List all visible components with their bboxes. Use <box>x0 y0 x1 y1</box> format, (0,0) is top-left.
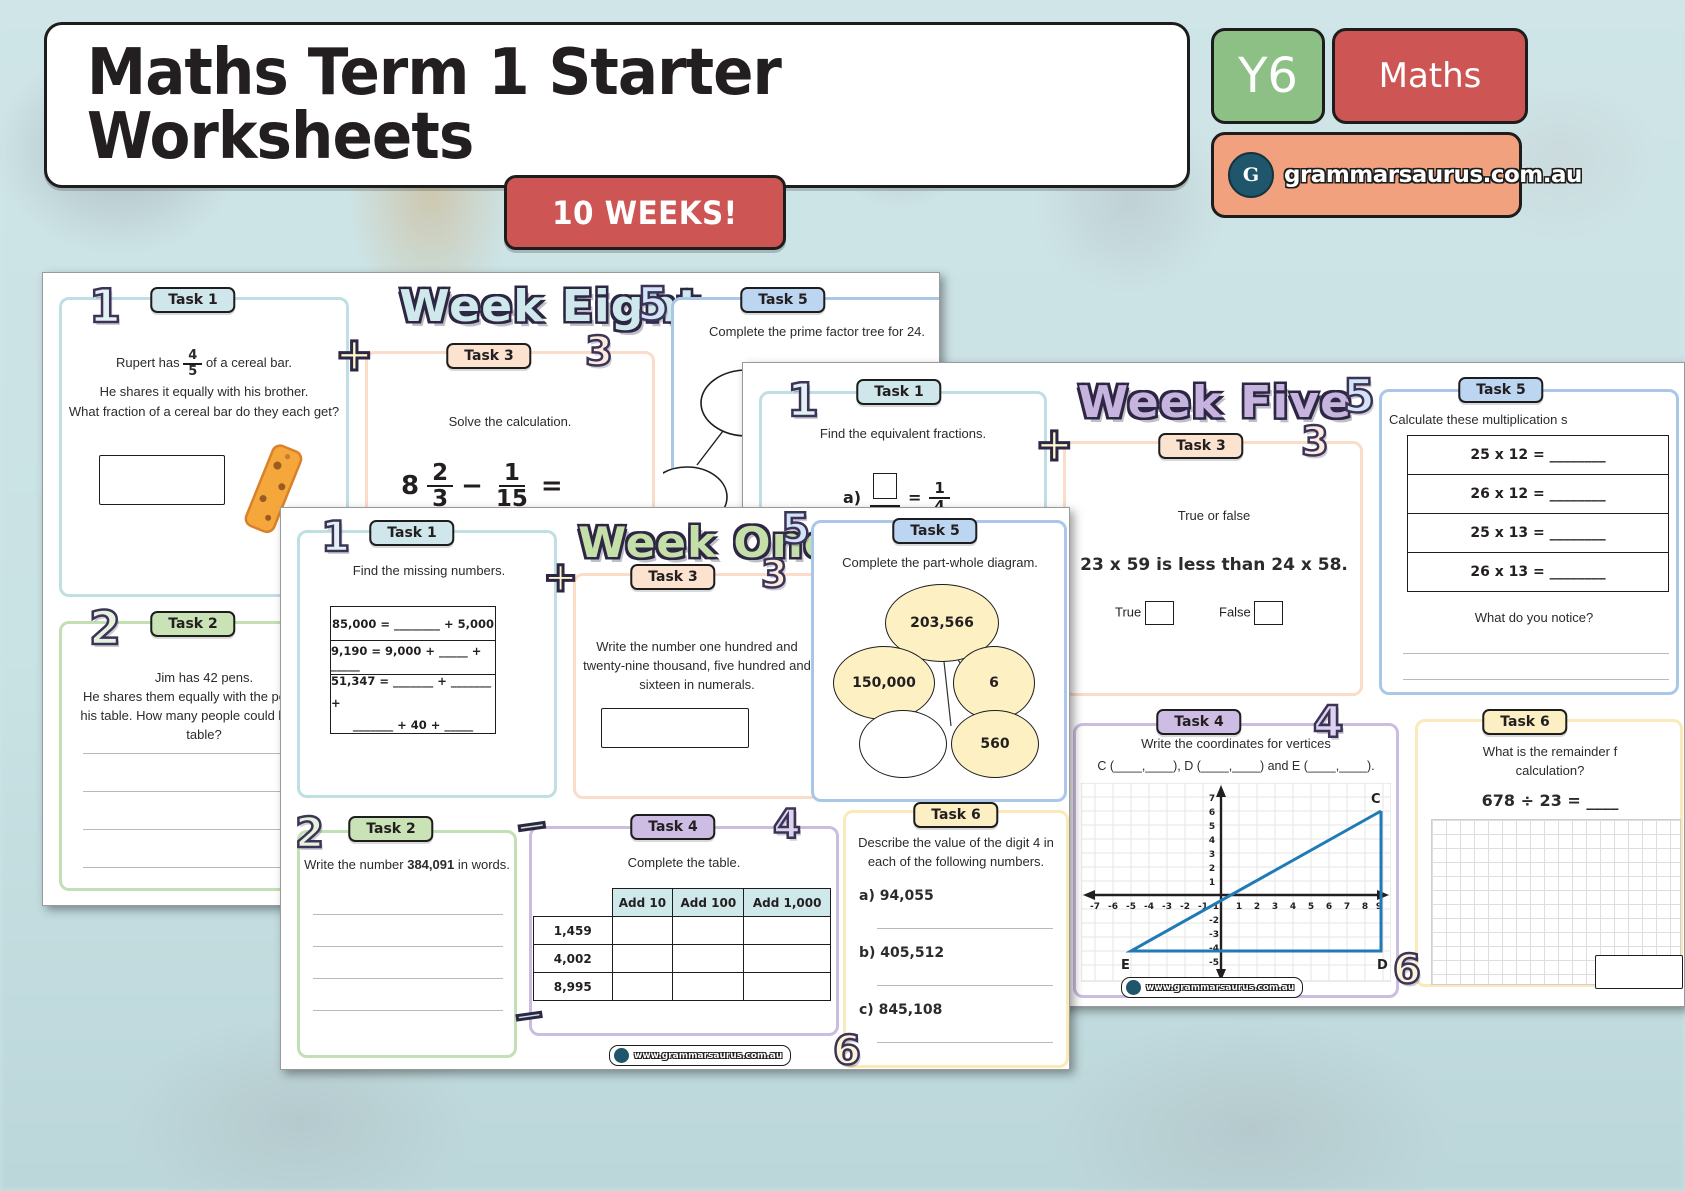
week-one-task5-prompt: Complete the part-whole diagram. <box>815 554 1065 573</box>
week-five-task5-prompt: Calculate these multiplication s <box>1389 411 1679 430</box>
year-badge: Y6 <box>1211 28 1325 124</box>
cell-add100[interactable] <box>673 973 744 1001</box>
week-one-task1-prompt: Find the missing numbers. <box>305 562 553 581</box>
page-title: Maths Term 1 Starter Worksheets <box>87 41 1147 169</box>
week-one-task5-tag: Task 5 <box>892 518 977 544</box>
answer-line[interactable] <box>313 1010 503 1011</box>
col-header-2: Add 100 <box>673 889 744 917</box>
footer-url-label: www.grammarsaurus.com.au <box>634 1051 782 1061</box>
worksheet-week-one[interactable]: Week One 1 Task 1 Find the missing numbe… <box>280 507 1070 1070</box>
table-row[interactable]: 26 x 13 = ________ <box>1408 553 1668 591</box>
row-label: 1,459 <box>534 917 613 945</box>
svg-text:-3: -3 <box>1209 930 1219 940</box>
svg-text:3: 3 <box>1209 850 1215 860</box>
task3-equals: = <box>541 471 563 501</box>
week-eight-task2-tag: Task 2 <box>150 611 235 637</box>
task3-fraction-1: 2 3 <box>427 461 453 511</box>
week-five-task5-calculation-table[interactable]: 25 x 12 = ________ 26 x 12 = ________ 25… <box>1407 435 1669 592</box>
week-eight-task1-line1: Rupert has 4 5 of a cereal bar. <box>73 349 335 378</box>
week-one-task4-table[interactable]: Add 10 Add 100 Add 1,000 1,459 4,002 8,9… <box>533 888 831 1001</box>
answer-line[interactable] <box>313 946 503 947</box>
week-five-task3-statement: 23 x 59 is less than 24 x 58. <box>1073 553 1355 578</box>
vertex-label-e: E <box>1121 958 1130 973</box>
task3-fraction-2: 1 15 <box>491 461 533 511</box>
table-row[interactable]: 9,190 = 9,000 + _____ + _____ <box>331 641 495 675</box>
svg-text:6: 6 <box>1209 808 1215 818</box>
part-whole-part-4[interactable]: 560 <box>951 710 1039 778</box>
cell-add100[interactable] <box>673 917 744 945</box>
answer-line[interactable] <box>313 914 503 915</box>
answer-line[interactable] <box>313 978 503 979</box>
col-header-3: Add 1,000 <box>744 889 831 917</box>
week-eight-task2-number: 2 <box>89 601 121 655</box>
false-checkbox[interactable] <box>1254 601 1283 625</box>
svg-text:7: 7 <box>1209 794 1215 804</box>
task1-line1-post: of a cereal bar. <box>206 355 292 370</box>
week-five-task5-tag: Task 5 <box>1458 377 1543 403</box>
table-row[interactable]: 26 x 12 = ________ <box>1408 475 1668 514</box>
task1-equals: = <box>908 488 921 507</box>
svg-text:-3: -3 <box>1162 902 1172 912</box>
week-five-task3-false-option[interactable]: False <box>1219 601 1283 625</box>
brand-logo-letter: G <box>1243 164 1259 186</box>
true-checkbox[interactable] <box>1145 601 1174 625</box>
brand-badge[interactable]: G grammarsaurus.com.au <box>1211 132 1522 218</box>
week-eight-task3-number: 3 <box>585 329 613 375</box>
week-five-task6-number: 6 <box>1393 947 1421 993</box>
week-one-task2-tag: Task 2 <box>348 816 433 842</box>
cell-add10[interactable] <box>612 945 673 973</box>
week-eight-task5-tag: Task 5 <box>740 287 825 313</box>
svg-text:-4: -4 <box>1144 902 1154 912</box>
vertex-label-d: D <box>1377 958 1388 973</box>
week-five-task6-tag: Task 6 <box>1482 709 1567 735</box>
svg-text:5: 5 <box>1308 902 1314 912</box>
svg-text:-7: -7 <box>1090 902 1100 912</box>
week-one-task6-item-a: a) 94,055 <box>859 886 1059 906</box>
week-one-task6-item-c: c) 845,108 <box>859 1000 1059 1020</box>
week-eight-task3-calculation: 8 2 3 − 1 15 = <box>401 461 563 511</box>
svg-text:3: 3 <box>1272 902 1278 912</box>
week-five-task6-answer-box[interactable] <box>1595 955 1683 989</box>
page-title-card: Maths Term 1 Starter Worksheets <box>44 22 1190 188</box>
svg-text:4: 4 <box>1209 836 1215 846</box>
part-whole-part-1[interactable]: 150,000 <box>833 646 935 720</box>
cell-add10[interactable] <box>612 917 673 945</box>
subject-badge: Maths <box>1332 28 1528 124</box>
svg-text:2: 2 <box>1209 864 1215 874</box>
table-row[interactable]: 85,000 = ________ + 5,000 <box>331 607 495 641</box>
svg-text:5: 5 <box>1209 822 1215 832</box>
plus-icon: + <box>543 556 578 598</box>
minus-icon: − <box>512 804 551 848</box>
grammarsaurus-logo-icon: G <box>1228 152 1274 198</box>
table-row-line1: 51,347 = _______ + _______ + <box>331 671 495 715</box>
year-badge-label: Y6 <box>1238 48 1298 104</box>
week-one-task1-table[interactable]: 85,000 = ________ + 5,000 9,190 = 9,000 … <box>330 606 496 734</box>
week-eight-task1-number: 1 <box>89 279 121 333</box>
week-five-task1-prompt: Find the equivalent fractions. <box>767 425 1039 444</box>
table-row[interactable]: 4,002 <box>534 945 831 973</box>
answer-line[interactable] <box>877 928 1053 929</box>
part-whole-part-3[interactable] <box>859 710 947 778</box>
week-five-task5-number: 5 <box>1343 369 1375 423</box>
week-five-task5-notice: What do you notice? <box>1389 609 1679 628</box>
answer-line[interactable] <box>877 1042 1053 1043</box>
week-one-task3-number: 3 <box>761 552 787 596</box>
footer-badge[interactable]: www.grammarsaurus.com.au <box>1121 977 1303 998</box>
svg-text:1: 1 <box>1209 878 1215 888</box>
week-eight-task5-number: 5 <box>637 277 669 331</box>
table-row[interactable]: 25 x 13 = ________ <box>1408 514 1668 553</box>
row-label: 4,002 <box>534 945 613 973</box>
week-one-task4-number: 4 <box>773 802 801 848</box>
week-one-task6-item-b: b) 405,512 <box>859 943 1059 963</box>
table-row[interactable]: 8,995 <box>534 973 831 1001</box>
svg-text:-2: -2 <box>1180 902 1190 912</box>
week-one-task3-prompt: Write the number one hundred and twenty-… <box>579 638 815 695</box>
false-label: False <box>1219 604 1251 619</box>
week-one-task1-tag: Task 1 <box>369 520 454 546</box>
footer-badge[interactable]: www.grammarsaurus.com.au <box>609 1045 791 1066</box>
cell-add100[interactable] <box>673 945 744 973</box>
table-row[interactable]: 25 x 12 = ________ <box>1408 436 1668 475</box>
answer-line[interactable] <box>877 985 1053 986</box>
task1-line1-pre: Rupert has <box>116 355 180 370</box>
week-five-task4-tag: Task 4 <box>1156 709 1241 735</box>
vertex-label-c: C <box>1371 792 1381 807</box>
week-one-task2-number: 2 <box>295 808 324 857</box>
grammarsaurus-logo-icon <box>1126 980 1141 995</box>
cell-add10[interactable] <box>612 973 673 1001</box>
part-whole-part-2[interactable]: 6 <box>953 646 1035 720</box>
plus-icon: + <box>1035 421 1074 467</box>
grammarsaurus-logo-icon <box>614 1048 629 1063</box>
coordinate-grid-diagram[interactable]: -7-6-5 -4-3-2 -112 345 678 9 765 432 1-1… <box>1081 783 1391 983</box>
svg-text:-5: -5 <box>1126 902 1136 912</box>
week-eight-task1-line2: He shares it equally with his brother. <box>69 383 339 402</box>
task1-item-label: a) <box>843 488 861 507</box>
table-header-row: Add 10 Add 100 Add 1,000 <box>534 889 831 917</box>
week-one-task6-number: 6 <box>833 1028 861 1070</box>
week-five-task3-true-option[interactable]: True <box>1115 601 1174 625</box>
cell-add1000[interactable] <box>744 973 831 1001</box>
week-five-task6-calculation[interactable]: 678 ÷ 23 = ____ <box>1421 789 1679 812</box>
week-eight-task1-tag: Task 1 <box>150 287 235 313</box>
answer-line[interactable] <box>1403 679 1669 680</box>
week-eight-task3-prompt: Solve the calculation. <box>385 413 635 432</box>
row-label: 8,995 <box>534 973 613 1001</box>
task2-number: 384,091 <box>407 857 454 872</box>
svg-text:1: 1 <box>1236 902 1242 912</box>
svg-text:-5: -5 <box>1209 958 1219 968</box>
week-five-task4-prompt: Write the coordinates for vertices <box>1079 735 1393 754</box>
week-eight-task3-tag: Task 3 <box>446 343 531 369</box>
task1-fraction-icon: 4 5 <box>183 349 202 378</box>
minus-icon: − <box>511 994 548 1036</box>
true-label: True <box>1115 604 1141 619</box>
footer-url-label: www.grammarsaurus.com.au <box>1146 983 1294 993</box>
week-one-task6-prompt: Describe the value of the digit 4 in eac… <box>849 834 1063 872</box>
week-five-task6-prompt: What is the remainder f calculation? <box>1421 743 1679 781</box>
table-row[interactable]: 51,347 = _______ + _______ + _______ + 4… <box>331 675 495 733</box>
brand-url-label: grammarsaurus.com.au <box>1284 162 1582 188</box>
table-row-line2: _______ + 40 + _____ <box>353 715 473 737</box>
week-five-task3-tag: Task 3 <box>1158 433 1243 459</box>
week-one-task1-number: 1 <box>321 512 350 561</box>
week-five-task1-number: 1 <box>787 373 819 427</box>
week-five-task1-tag: Task 1 <box>856 379 941 405</box>
week-one-task2-prompt: Write the number 384,091 in words. <box>303 856 511 875</box>
week-one-task3-tag: Task 3 <box>630 564 715 590</box>
plus-icon: + <box>335 331 374 377</box>
weeks-badge-label: 10 WEEKS! <box>552 194 737 232</box>
task3-whole: 8 <box>401 471 419 501</box>
svg-text:4: 4 <box>1290 902 1296 912</box>
task1-blank-box[interactable] <box>873 473 897 499</box>
col-header-0 <box>534 889 613 917</box>
week-one-task6-tag: Task 6 <box>913 802 998 828</box>
cell-add1000[interactable] <box>744 917 831 945</box>
svg-text:2: 2 <box>1254 902 1260 912</box>
task3-operator: − <box>461 471 483 501</box>
svg-text:-2: -2 <box>1209 916 1219 926</box>
svg-text:-6: -6 <box>1108 902 1118 912</box>
week-one-task3-answer-box[interactable] <box>601 708 749 748</box>
week-eight-task5-prompt: Complete the prime factor tree for 24. <box>677 323 940 342</box>
col-header-1: Add 10 <box>612 889 673 917</box>
week-one-task5-number: 5 <box>781 507 810 553</box>
svg-text:8: 8 <box>1362 902 1368 912</box>
week-one-task4-prompt: Complete the table. <box>535 854 833 873</box>
table-row[interactable]: 1,459 <box>534 917 831 945</box>
week-five-task3-number: 3 <box>1301 419 1329 465</box>
week-eight-task1-line3: What fraction of a cereal bar do they ea… <box>61 403 347 422</box>
week-one-task4-tag: Task 4 <box>630 814 715 840</box>
answer-line[interactable] <box>1403 653 1669 654</box>
subject-badge-label: Maths <box>1379 56 1482 96</box>
cell-add1000[interactable] <box>744 945 831 973</box>
svg-text:7: 7 <box>1344 902 1350 912</box>
svg-text:6: 6 <box>1326 902 1332 912</box>
task2-prompt-post: in words. <box>458 857 510 872</box>
task2-prompt-pre: Write the number <box>304 857 403 872</box>
weeks-badge: 10 WEEKS! <box>504 175 786 250</box>
week-five-task4-vertices[interactable]: C (____,____), D (____,____) and E (____… <box>1069 757 1403 775</box>
week-five-task3-prompt: True or false <box>1073 507 1355 526</box>
week-eight-task1-answer-box[interactable] <box>99 455 225 505</box>
